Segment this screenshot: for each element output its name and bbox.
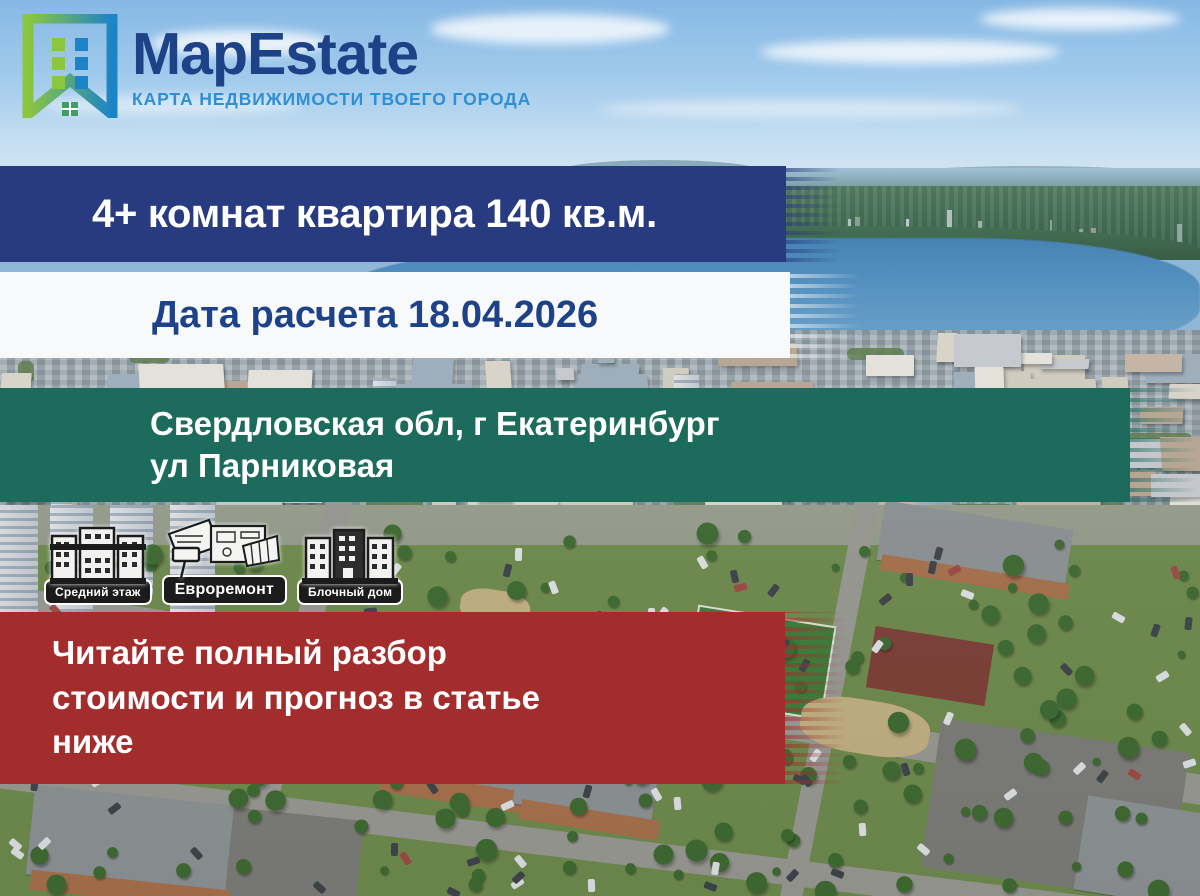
cta-text: Читайте полный разбор стоимости и прогно… <box>0 631 540 766</box>
bookmark-building-icon <box>22 14 118 118</box>
brush-edge-right <box>740 272 860 358</box>
logo-wordmark: MapEstate КАРТА НЕДВИЖИМОСТИ ТВОЕГО ГОРО… <box>132 14 531 110</box>
blueprint-paint-roller-icon <box>165 516 283 580</box>
address-line-2: ул Парниковая <box>150 445 720 487</box>
banner-address: Свердловская обл, г Екатеринбург ул Парн… <box>0 388 1130 502</box>
calc-date-text: Дата расчета 18.04.2026 <box>0 294 598 337</box>
cloud <box>980 8 1180 30</box>
banner-property: 4+ комнат квартира 140 кв.м. <box>0 166 786 262</box>
badge-middle-floor: Средний этаж <box>44 522 152 605</box>
brush-edge-right <box>739 612 845 784</box>
brush-edge-right <box>744 166 840 262</box>
banner-calc-date: Дата расчета 18.04.2026 <box>0 272 790 358</box>
cta-line-1: Читайте полный разбор <box>52 631 540 676</box>
address-text: Свердловская обл, г Екатеринбург ул Парн… <box>0 403 720 487</box>
brush-edge-right <box>1078 388 1196 502</box>
cta-line-3: ниже <box>52 720 540 765</box>
badge-block-house: Блочный дом <box>297 522 403 605</box>
property-text: 4+ комнат квартира 140 кв.м. <box>0 192 657 237</box>
brand-name: MapEstate <box>132 26 531 82</box>
brand-tagline: КАРТА НЕДВИЖИМОСТИ ТВОЕГО ГОРОДА <box>132 89 531 110</box>
apartment-building-icon <box>50 522 146 584</box>
promo-poster: MapEstate КАРТА НЕДВИЖИМОСТИ ТВОЕГО ГОРО… <box>0 0 1200 896</box>
cta-line-2: стоимости и прогноз в статье <box>52 676 540 721</box>
cloud <box>760 40 1060 64</box>
cloud <box>600 100 1020 118</box>
banner-cta: Читайте полный разбор стоимости и прогно… <box>0 612 785 784</box>
feature-badges: Средний этаж <box>44 516 403 605</box>
badge-euro-renovation: Евроремонт <box>162 516 287 605</box>
address-line-1: Свердловская обл, г Екатеринбург <box>150 403 720 445</box>
block-house-icon <box>302 522 398 584</box>
brand-logo[interactable]: MapEstate КАРТА НЕДВИЖИМОСТИ ТВОЕГО ГОРО… <box>22 14 531 118</box>
